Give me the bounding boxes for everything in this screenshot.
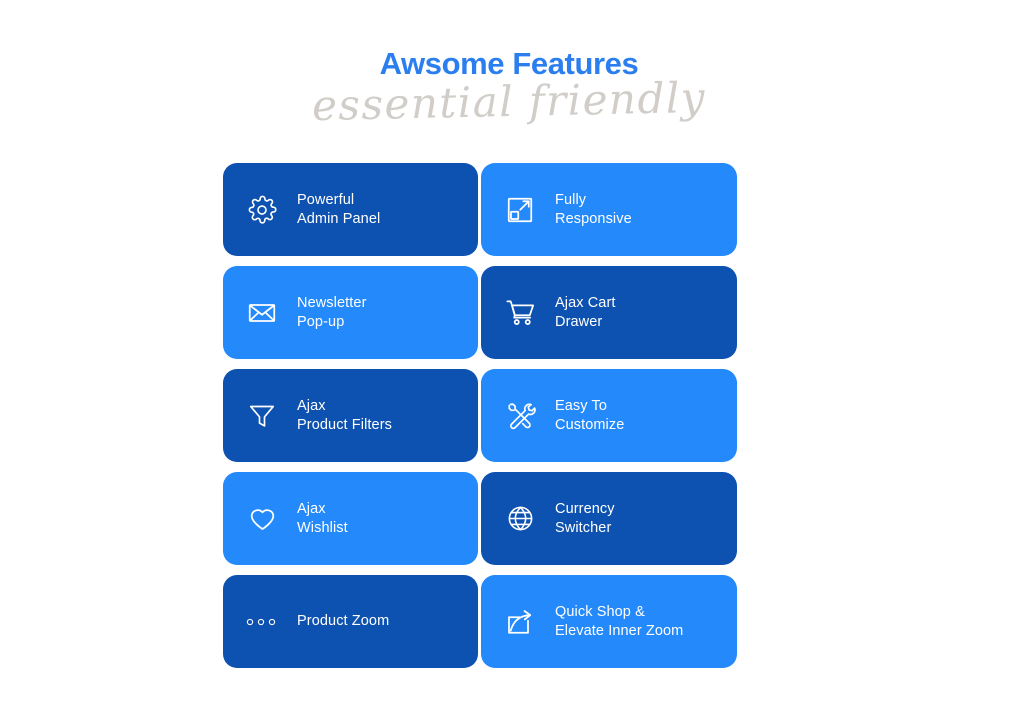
tools-icon — [503, 399, 537, 433]
feature-label: Fully Responsive — [555, 191, 632, 229]
globe-icon — [503, 502, 537, 536]
features-section: essential friendly Awsome Features Power… — [0, 0, 1018, 719]
envelope-icon — [245, 296, 279, 330]
share-export-icon — [503, 605, 537, 639]
feature-label: Easy To Customize — [555, 397, 624, 435]
feature-card-product-zoom[interactable]: Product Zoom — [223, 575, 478, 668]
feature-card-fully-responsive[interactable]: Fully Responsive — [481, 163, 737, 256]
feature-card-ajax-product-filters[interactable]: Ajax Product Filters — [223, 369, 478, 462]
feature-row: Ajax Wishlist Currency Switcher — [223, 472, 739, 565]
section-heading: essential friendly Awsome Features — [0, 44, 1018, 144]
feature-label: Ajax Product Filters — [297, 397, 392, 435]
gear-icon — [245, 193, 279, 227]
shopping-cart-icon — [503, 296, 537, 330]
feature-card-ajax-cart-drawer[interactable]: Ajax Cart Drawer — [481, 266, 737, 359]
feature-row: Ajax Product Filters Easy To Customize — [223, 369, 739, 462]
feature-card-easy-to-customize[interactable]: Easy To Customize — [481, 369, 737, 462]
expand-arrow-icon — [503, 193, 537, 227]
feature-label: Product Zoom — [297, 612, 389, 631]
feature-row: Newsletter Pop-up Ajax Cart Drawer — [223, 266, 739, 359]
feature-label: Quick Shop & Elevate Inner Zoom — [555, 603, 683, 641]
feature-card-quick-shop-elevate-inner-zoom[interactable]: Quick Shop & Elevate Inner Zoom — [481, 575, 737, 668]
page-title: Awsome Features — [0, 44, 1018, 84]
feature-card-grid: Powerful Admin Panel Fully Responsive — [223, 163, 739, 678]
feature-label: Powerful Admin Panel — [297, 191, 380, 229]
three-dots-icon — [245, 605, 279, 639]
feature-label: Currency Switcher — [555, 500, 615, 538]
feature-card-currency-switcher[interactable]: Currency Switcher — [481, 472, 737, 565]
heart-icon — [245, 502, 279, 536]
feature-card-powerful-admin-panel[interactable]: Powerful Admin Panel — [223, 163, 478, 256]
feature-card-ajax-wishlist[interactable]: Ajax Wishlist — [223, 472, 478, 565]
feature-label: Ajax Cart Drawer — [555, 294, 616, 332]
feature-label: Ajax Wishlist — [297, 500, 348, 538]
funnel-icon — [245, 399, 279, 433]
feature-card-newsletter-popup[interactable]: Newsletter Pop-up — [223, 266, 478, 359]
feature-label: Newsletter Pop-up — [297, 294, 367, 332]
feature-row: Product Zoom Quick Shop & Elevate Inner … — [223, 575, 739, 668]
feature-row: Powerful Admin Panel Fully Responsive — [223, 163, 739, 256]
